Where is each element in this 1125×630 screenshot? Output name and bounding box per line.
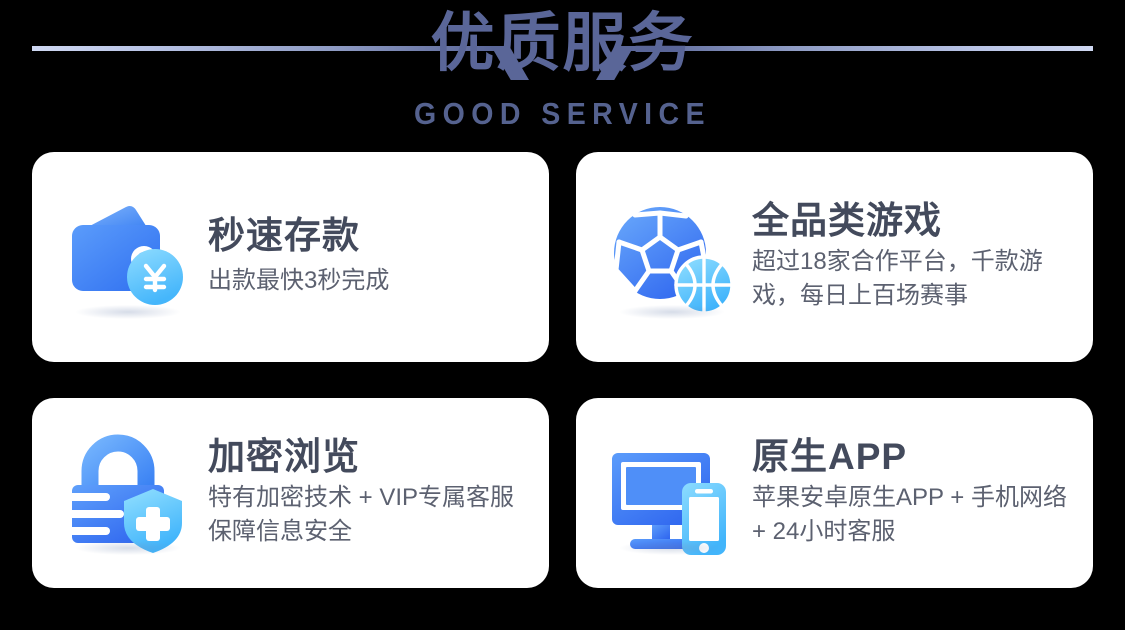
card-subtitle: 特有加密技术 + VIP专属客服保障信息安全 (208, 481, 529, 549)
page-subtitle: GOOD SERVICE (45, 96, 1080, 132)
service-card-grid: 秒速存款 出款最快3秒完成 (32, 152, 1093, 588)
page-title: 优质服务 (0, 8, 1125, 80)
page-header: 优质服务 GOOD SERVICE (0, 0, 1125, 148)
card-subtitle: 超过18家合作平台，千款游戏，每日上百场赛事 (752, 245, 1073, 313)
monitor-phone-icon (604, 429, 740, 557)
card-title: 全品类游戏 (752, 201, 1073, 242)
card-title: 加密浏览 (208, 437, 529, 478)
service-card-encrypted-browsing[interactable]: 加密浏览 特有加密技术 + VIP专属客服保障信息安全 (32, 398, 549, 588)
card-subtitle: 苹果安卓原生APP + 手机网络 + 24小时客服 (752, 481, 1073, 549)
service-card-all-games[interactable]: 全品类游戏 超过18家合作平台，千款游戏，每日上百场赛事 (576, 152, 1093, 362)
card-text: 加密浏览 特有加密技术 + VIP专属客服保障信息安全 (208, 437, 529, 550)
card-text: 全品类游戏 超过18家合作平台，千款游戏，每日上百场赛事 (752, 201, 1073, 314)
lock-shield-icon (60, 429, 196, 557)
soccer-basketball-icon (604, 193, 740, 321)
service-card-native-app[interactable]: 原生APP 苹果安卓原生APP + 手机网络 + 24小时客服 (576, 398, 1093, 588)
card-title: 秒速存款 (208, 216, 529, 257)
card-text: 原生APP 苹果安卓原生APP + 手机网络 + 24小时客服 (752, 437, 1073, 550)
wallet-icon (60, 193, 196, 321)
card-title: 原生APP (752, 437, 1073, 478)
service-card-instant-deposit[interactable]: 秒速存款 出款最快3秒完成 (32, 152, 549, 362)
card-text: 秒速存款 出款最快3秒完成 (208, 216, 529, 299)
card-subtitle: 出款最快3秒完成 (208, 264, 529, 298)
